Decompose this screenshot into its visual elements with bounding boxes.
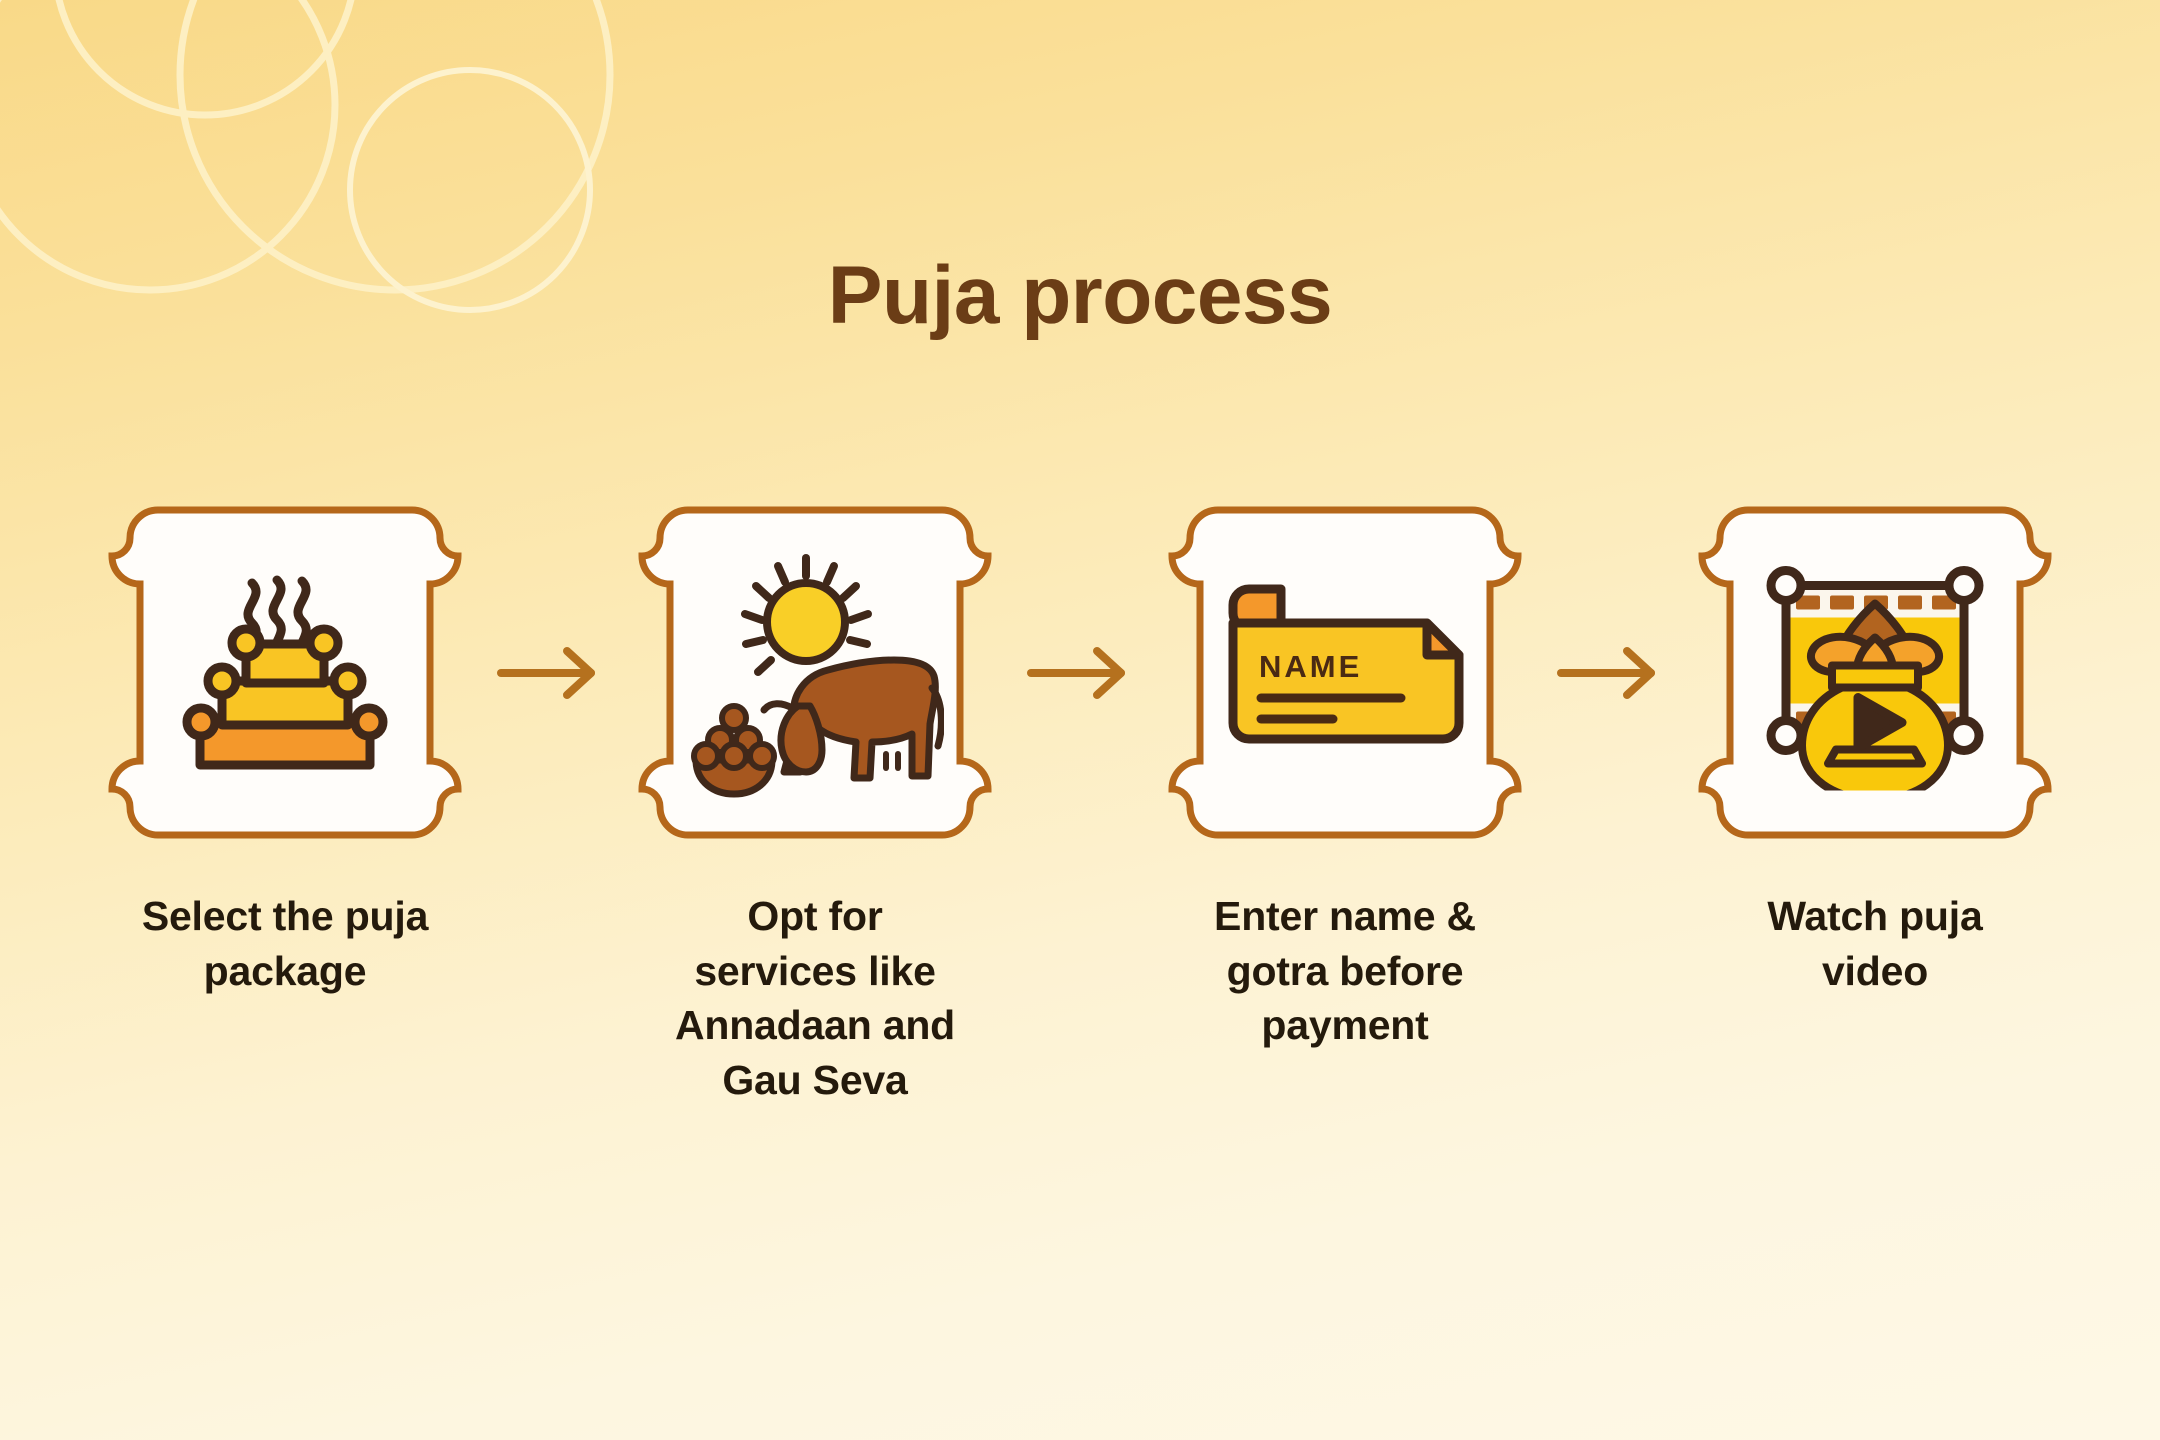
- arrow-right-icon: [1025, 643, 1135, 703]
- step-card-wrapper[interactable]: NAME: [1145, 480, 1545, 865]
- step-caption: Enter name & gotra before payment: [1180, 889, 1510, 1053]
- cow-seva-icon: [686, 548, 944, 798]
- arrow-3-4: [1545, 480, 1675, 865]
- step-card-wrapper[interactable]: [1675, 480, 2075, 865]
- step-card-wrapper[interactable]: [85, 480, 485, 865]
- step-caption: Select the puja package: [120, 889, 450, 998]
- arrow-1-2: [485, 480, 615, 865]
- step-caption: Watch puja video: [1710, 889, 2040, 998]
- steps-row: Select the puja package: [0, 480, 2160, 1107]
- arrow-right-icon: [1555, 643, 1665, 703]
- step-enter-name-gotra[interactable]: NAME Enter name & gotra before payment: [1145, 480, 1545, 1053]
- step-caption: Opt for services like Annadaan and Gau S…: [650, 889, 980, 1107]
- step-card[interactable]: [630, 480, 1000, 865]
- havan-altar-icon: [160, 548, 410, 798]
- step-select-package[interactable]: Select the puja package: [85, 480, 485, 998]
- step-opt-services[interactable]: Opt for services like Annadaan and Gau S…: [615, 480, 1015, 1107]
- puja-video-icon: [1750, 555, 2000, 790]
- name-card-icon: NAME: [1215, 573, 1475, 773]
- puja-process-infographic: Puja process: [0, 0, 2160, 1440]
- step-card-wrapper[interactable]: [615, 480, 1015, 865]
- step-watch-video[interactable]: Watch puja video: [1675, 480, 2075, 998]
- name-card-label: NAME: [1259, 649, 1362, 684]
- arrow-right-icon: [495, 643, 605, 703]
- step-card[interactable]: [100, 480, 470, 865]
- arrow-2-3: [1015, 480, 1145, 865]
- page-title: Puja process: [0, 255, 2160, 337]
- step-card[interactable]: NAME: [1160, 480, 1530, 865]
- step-card[interactable]: [1690, 480, 2060, 865]
